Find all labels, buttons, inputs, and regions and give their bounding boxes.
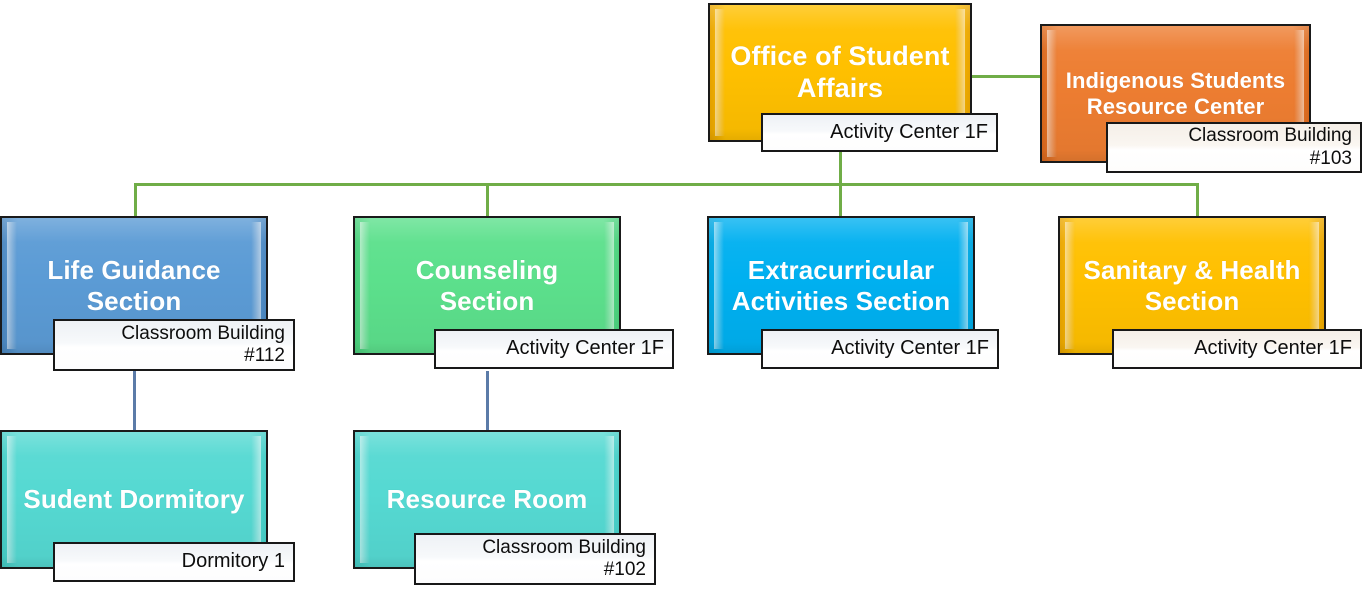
node-indigenous-students-resource-center-label: Indigenous Students Resource Center [1042,68,1309,120]
callout-extracurricular-line1: Activity Center 1F [831,337,989,361]
callout-resource-room: Classroom Building #102 [414,533,656,585]
callout-indigenous-students-resource-center: Classroom Building #103 [1106,122,1362,173]
callout-sanitary-health-section: Activity Center 1F [1112,329,1362,369]
connector-bus-to-life-guidance [134,183,137,218]
node-extracurricular-activities-section-label: Extracurricular Activities Section [709,255,973,316]
callout-resource-room-line2: #102 [604,559,646,581]
node-office-of-student-affairs-label: Office of Student Affairs [710,41,970,105]
callout-life-guidance-line1: Classroom Building [121,323,285,345]
org-chart-canvas: Office of Student Affairs Activity Cente… [0,0,1362,601]
callout-resource-room-line1: Classroom Building [482,537,646,559]
connector-bus-to-extracurricular [839,183,842,218]
connector-horizontal-bus [134,183,1199,186]
connector-office-to-indigenous [968,75,1044,78]
connector-bus-to-sanitary-health [1196,183,1199,218]
node-life-guidance-section-label: Life Guidance Section [2,255,266,316]
callout-sanitary-health-line1: Activity Center 1F [1194,337,1352,361]
node-counseling-section-label: Counseling Section [355,255,619,316]
connector-office-vertical-drop [839,152,842,186]
callout-counseling-section: Activity Center 1F [434,329,674,369]
connector-counseling-to-resource-room [486,371,489,432]
node-student-dormitory-label: Sudent Dormitory [2,484,266,515]
callout-office-of-student-affairs-line1: Activity Center 1F [830,121,988,145]
callout-indigenous-line1: Classroom Building [1188,125,1352,147]
connector-bus-to-counseling [486,183,489,218]
callout-extracurricular-activities-section: Activity Center 1F [761,329,999,369]
node-resource-room-label: Resource Room [355,484,619,515]
callout-office-of-student-affairs: Activity Center 1F [761,113,998,152]
node-sanitary-health-section-label: Sanitary & Health Section [1060,255,1324,316]
callout-student-dormitory-line1: Dormitory 1 [182,550,285,574]
callout-life-guidance-line2: #112 [244,345,285,367]
callout-counseling-line1: Activity Center 1F [506,337,664,361]
callout-indigenous-line2: #103 [1310,148,1352,170]
connector-life-guidance-to-dormitory [133,371,136,432]
callout-life-guidance-section: Classroom Building #112 [53,319,295,371]
callout-student-dormitory: Dormitory 1 [53,542,295,582]
